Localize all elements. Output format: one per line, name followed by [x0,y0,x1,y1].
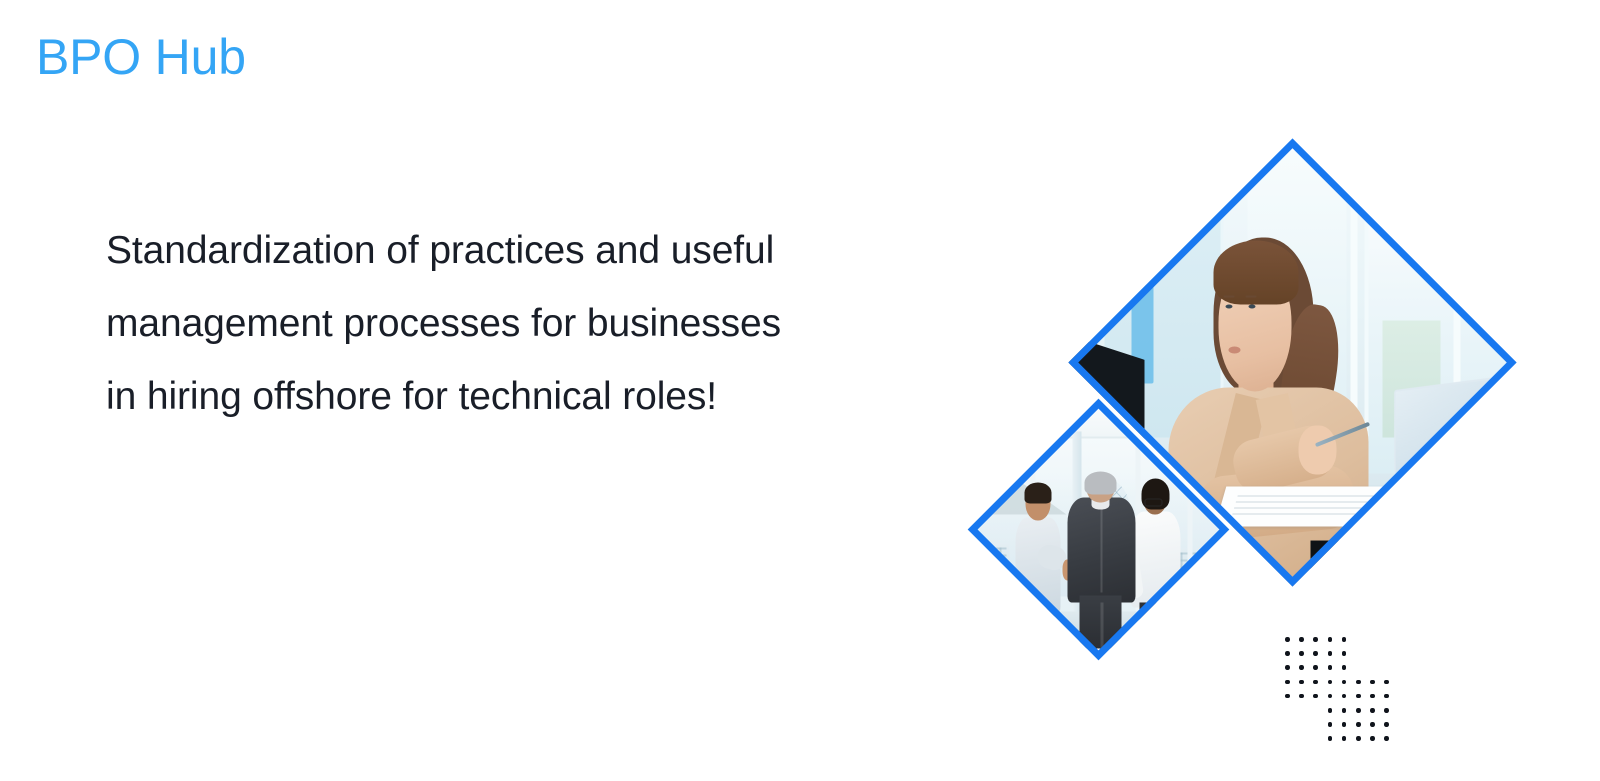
paper-text-lines [1232,495,1389,518]
paper-document [1215,487,1406,527]
pattern-dot [1342,665,1347,670]
leg-gap [1100,603,1103,649]
pattern-dot [1328,651,1333,656]
building [1177,549,1214,596]
legs [1020,609,1055,644]
pattern-dot [1313,680,1318,685]
jacket-seam [1100,508,1102,592]
pattern-dot [1342,651,1347,656]
hand [1299,425,1337,474]
pattern-dot [1384,680,1389,685]
slide-canvas: BPO Hub Standardization of practices and… [0,0,1600,781]
pattern-dot [1313,651,1318,656]
pattern-dot [1328,722,1333,727]
pattern-dot [1370,708,1375,713]
pattern-dot [1328,680,1333,685]
headline-line-2: management processes for businesses [106,287,966,360]
pattern-dot [1299,651,1304,656]
hair [1084,471,1117,494]
pattern-dot [1384,736,1389,741]
pattern-dot [1342,708,1347,713]
pattern-dot [1342,694,1347,699]
pattern-dot [1384,722,1389,727]
pattern-dot [1384,708,1389,713]
pattern-dot [1356,694,1361,699]
headline-block: Standardization of practices and useful … [106,214,966,433]
brand-title: BPO Hub [36,27,246,87]
pattern-dot [1285,665,1290,670]
pattern-dot [1313,637,1318,642]
pattern-dot [1299,680,1304,685]
legs [1139,602,1171,648]
laptop-screen [1394,376,1508,531]
headline-line-1: Standardization of practices and useful [106,214,966,287]
pattern-dot [1328,708,1333,713]
pattern-dot [1342,680,1347,685]
pattern-dot [1299,665,1304,670]
pattern-dot [1285,651,1290,656]
building [983,544,1009,596]
pattern-dot [1299,694,1304,699]
pattern-dot [1384,694,1389,699]
pattern-dot [1356,722,1361,727]
pattern-dot [1328,736,1333,741]
pattern-dot [1328,665,1333,670]
pattern-dot [1356,708,1361,713]
eyebrow [1223,296,1234,298]
building-windows [986,548,1007,592]
pattern-dot [1299,637,1304,642]
person-center [1067,473,1135,649]
pattern-dot [1342,637,1347,642]
pattern-dot [1370,680,1375,685]
pattern-dot [1342,736,1347,741]
laptop-base [1358,513,1517,562]
pattern-dot [1313,694,1318,699]
hair [1025,483,1052,503]
pattern-dot [1328,637,1333,642]
building-windows [1181,553,1210,593]
pattern-dot [1356,680,1361,685]
headline-line-3: in hiring offshore for technical roles! [106,360,966,433]
mouth [1228,346,1240,353]
pattern-dot [1370,736,1375,741]
person-right [1130,483,1182,648]
pattern-dot [1313,665,1318,670]
dark-bottom-shadow [1310,540,1516,586]
pattern-dot [1285,694,1290,699]
glasses [1145,498,1163,507]
pattern-dot [1285,680,1290,685]
laptop-keys [1379,526,1507,548]
pattern-dot [1342,722,1347,727]
pattern-dot [1370,694,1375,699]
pattern-dot [1285,637,1290,642]
pattern-dot [1328,694,1333,699]
pattern-dot [1356,736,1361,741]
eyebrow [1246,296,1257,298]
pattern-dot [1370,722,1375,727]
person-left [1012,486,1064,643]
decorative-dot-pattern [1285,637,1420,772]
